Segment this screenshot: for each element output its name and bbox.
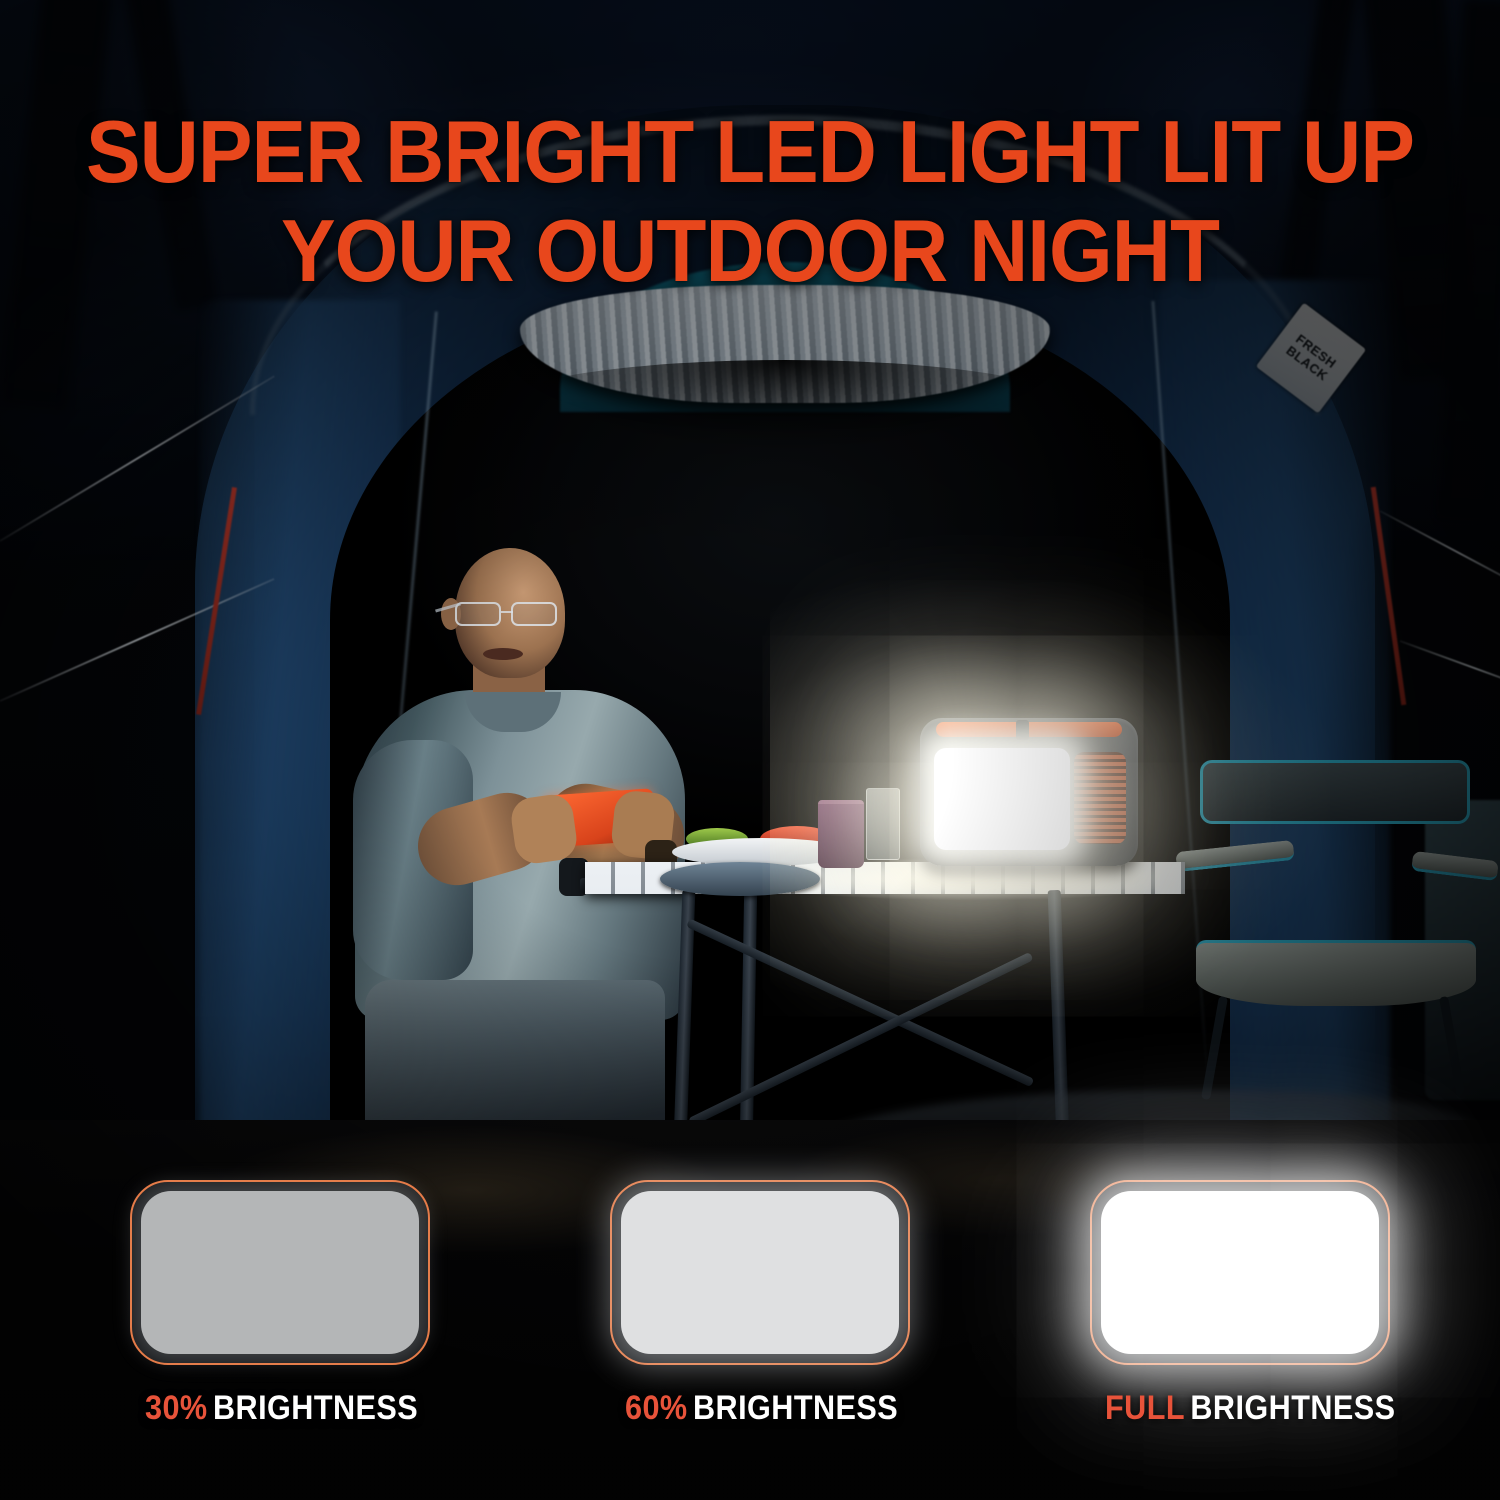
brightness-comparison-row: 30%BRIGHTNESS 60%BRIGHTNESS FULLBRIGHTNE… — [0, 1180, 1500, 1500]
brightness-swatch-frame — [130, 1180, 430, 1365]
brightness-level-60[interactable]: 60%BRIGHTNESS — [610, 1180, 910, 1428]
page-title: SUPER BRIGHT LED LIGHT LIT UP YOUR OUTDO… — [53, 103, 1448, 300]
brightness-swatch-fill — [1101, 1191, 1379, 1354]
chair-leg — [1439, 996, 1466, 1100]
tent-flap-shadow — [500, 360, 1070, 450]
chair-seat — [1196, 940, 1476, 1006]
product-banner: FRESH BLACK — [0, 0, 1500, 1500]
chair-leg — [1201, 996, 1228, 1100]
lantern-led-panel — [934, 748, 1070, 850]
brightness-percent: FULL — [1105, 1389, 1185, 1427]
drinking-glass — [866, 788, 900, 860]
brightness-level-full[interactable]: FULLBRIGHTNESS — [1090, 1180, 1390, 1428]
brightness-swatch-frame — [1090, 1180, 1390, 1365]
eyeglasses-icon — [453, 602, 571, 626]
brightness-label: FULLBRIGHTNESS — [1105, 1389, 1375, 1428]
brightness-level-30[interactable]: 30%BRIGHTNESS — [130, 1180, 430, 1428]
brightness-percent: 60% — [625, 1389, 688, 1427]
chair-armrest-left — [1175, 840, 1294, 872]
brightness-swatch-fill — [141, 1191, 419, 1354]
person-hand-left — [509, 792, 580, 866]
led-lantern-product — [920, 718, 1138, 866]
lantern-top-accent — [936, 722, 1122, 737]
person-mouth — [483, 648, 523, 660]
folding-chair-right — [1190, 760, 1480, 1100]
brightness-label: 30%BRIGHTNESS — [145, 1389, 415, 1428]
brightness-suffix: BRIGHTNESS — [1190, 1389, 1395, 1427]
brightness-label: 60%BRIGHTNESS — [625, 1389, 895, 1428]
brightness-swatch-frame — [610, 1180, 910, 1365]
plate-blue — [660, 862, 820, 896]
brightness-swatch-fill — [621, 1191, 899, 1354]
eyeglass-lens-right — [511, 602, 557, 626]
brightness-suffix: BRIGHTNESS — [693, 1389, 898, 1427]
drink-cup — [818, 800, 864, 868]
brightness-percent: 30% — [145, 1389, 208, 1427]
chair-backrest — [1200, 760, 1470, 824]
lantern-handle-slot — [1016, 720, 1029, 740]
lantern-speaker-grill — [1074, 752, 1126, 844]
brightness-suffix: BRIGHTNESS — [213, 1389, 418, 1427]
eyeglass-bridge — [501, 611, 513, 613]
eyeglass-lens-left — [455, 602, 501, 626]
